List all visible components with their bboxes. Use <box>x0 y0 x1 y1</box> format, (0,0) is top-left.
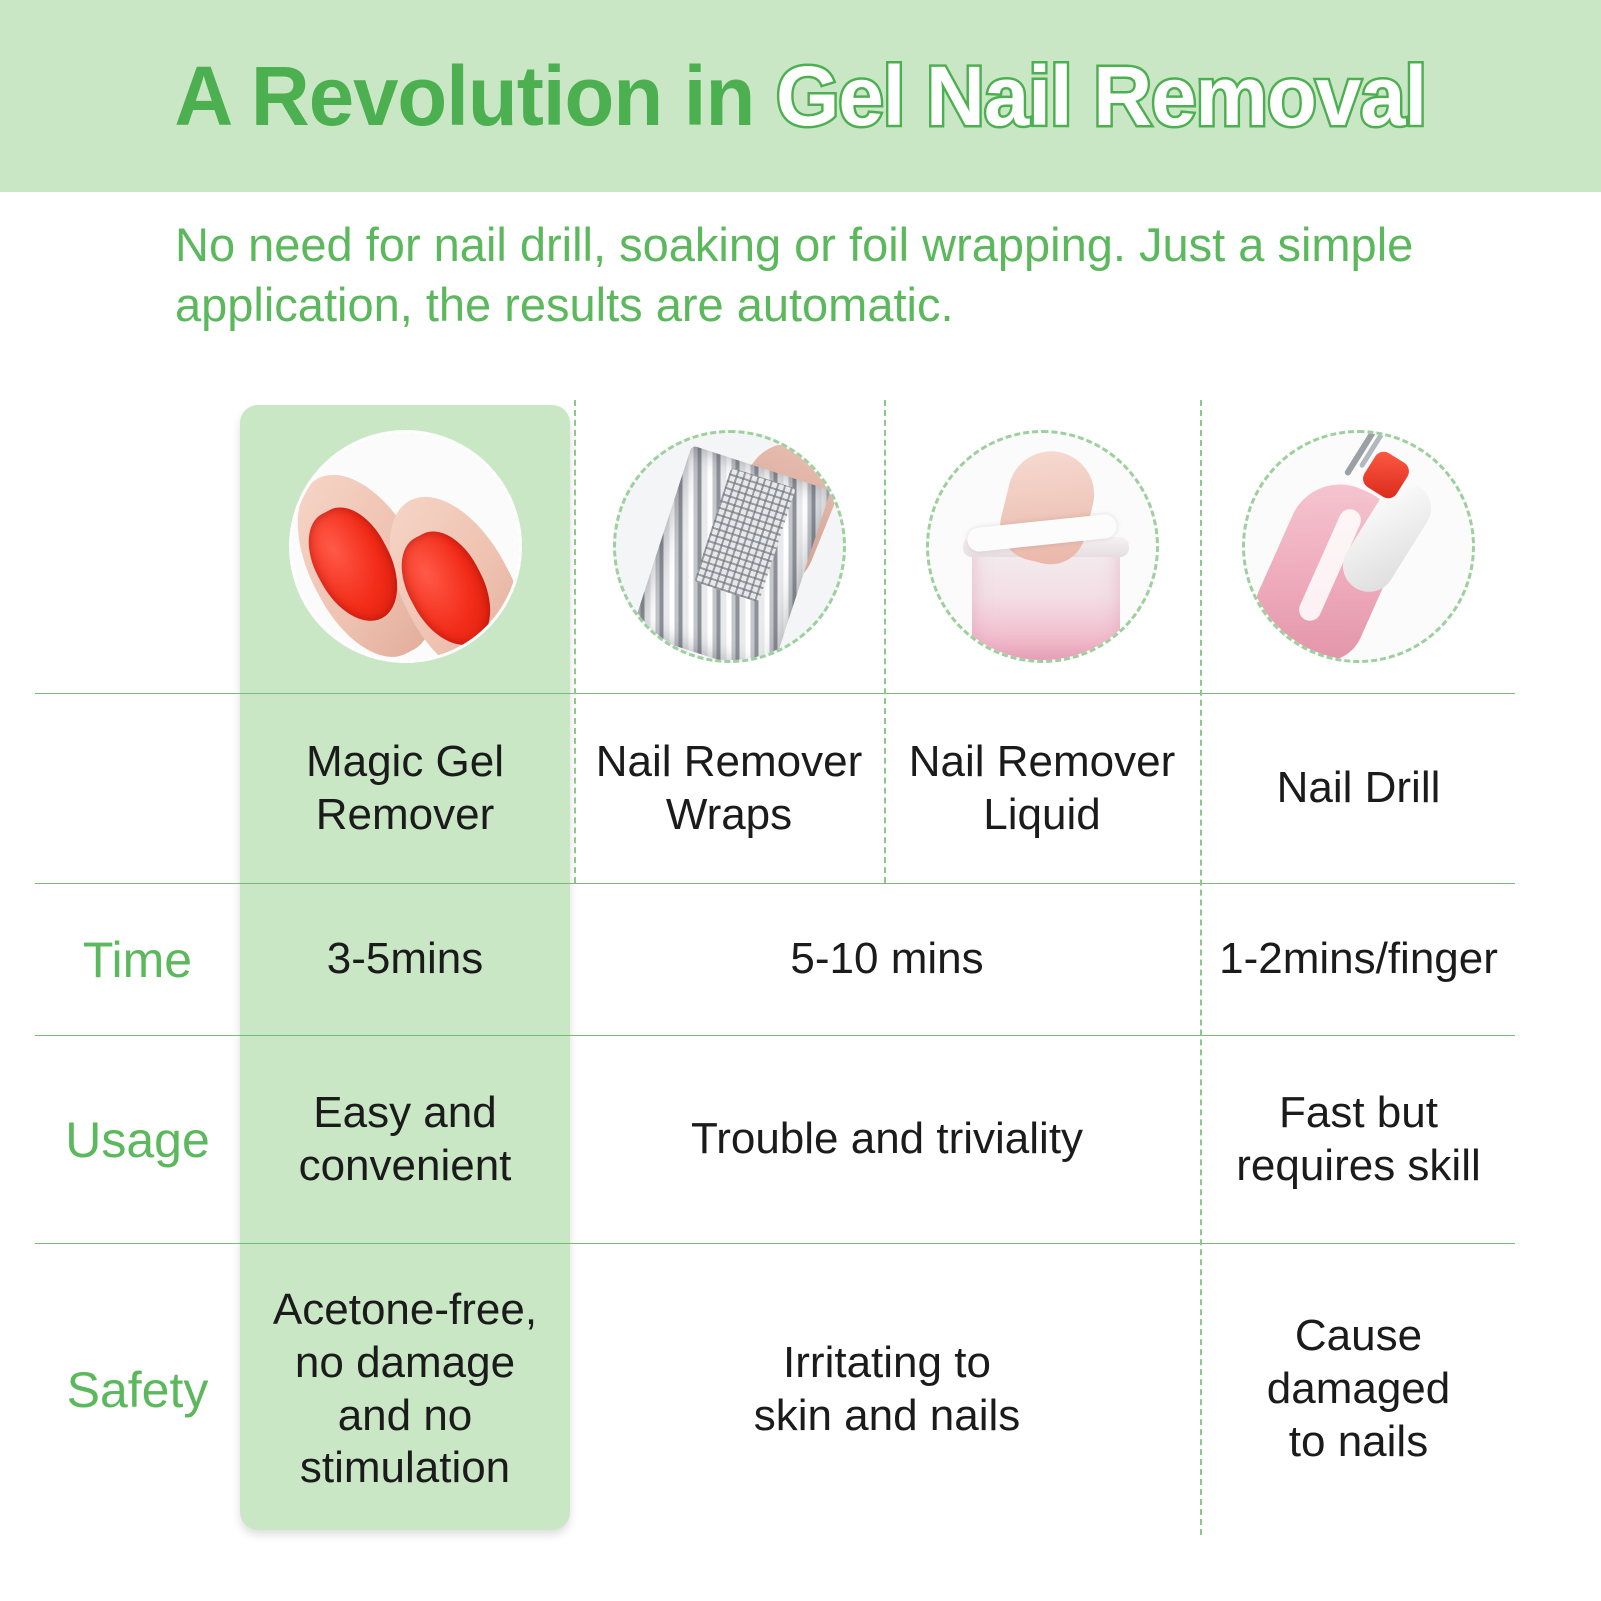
safety-value-magic-gel: Acetone-free, no damage and no stimulati… <box>240 1244 570 1535</box>
product-name-cell-3: Nail Remover Liquid <box>886 694 1198 883</box>
product-name-2-line1: Nail Remover <box>596 736 863 789</box>
product-name-2-line2: Wraps <box>596 789 863 842</box>
safety-magic-gel-line3: and no <box>273 1390 537 1443</box>
time-value-wraps-and-liquid: 5-10 mins <box>576 884 1198 1035</box>
header-band: A Revolution in Gel Nail Removal <box>0 0 1601 192</box>
safety-nail-drill-line3: to nails <box>1267 1416 1450 1469</box>
row-label-usage: Usage <box>35 1036 240 1243</box>
nail-drill-photo <box>1242 430 1475 663</box>
usage-nail-drill-line1: Fast but <box>1236 1087 1481 1140</box>
subtitle-text: No need for nail drill, soaking or foil … <box>175 215 1445 335</box>
product-image-cell-1 <box>240 400 570 693</box>
product-name-4-line1: Nail Drill <box>1277 762 1441 815</box>
product-image-cell-3 <box>886 400 1198 693</box>
time-value-magic-gel: 3-5mins <box>240 884 570 1035</box>
product-name-cell-2: Nail Remover Wraps <box>576 694 882 883</box>
safety-nail-drill-line2: damaged <box>1267 1363 1450 1416</box>
safety-span-line2: skin and nails <box>754 1390 1021 1443</box>
safety-nail-drill-line1: Cause <box>1267 1310 1450 1363</box>
usage-value-magic-gel: Easy and convenient <box>240 1036 570 1243</box>
row-label-time: Time <box>35 884 240 1035</box>
title-white-text: Gel Nail Removal <box>776 49 1426 143</box>
usage-value-nail-drill: Fast but requires skill <box>1202 1036 1515 1243</box>
safety-span-line1: Irritating to <box>754 1337 1021 1390</box>
safety-value-nail-drill: Cause damaged to nails <box>1202 1244 1515 1535</box>
safety-magic-gel-line2: no damage <box>273 1337 537 1390</box>
product-name-1-line2: Remover <box>306 789 504 842</box>
safety-magic-gel-line4: stimulation <box>273 1442 537 1495</box>
nail-gel-photo <box>289 430 522 663</box>
safety-value-wraps-and-liquid: Irritating to skin and nails <box>576 1244 1198 1535</box>
product-name-3-line2: Liquid <box>909 789 1176 842</box>
usage-magic-gel-line1: Easy and <box>299 1087 512 1140</box>
product-name-cell-1: Magic Gel Remover <box>240 694 570 883</box>
product-name-1-line1: Magic Gel <box>306 736 504 789</box>
usage-magic-gel-line2: convenient <box>299 1140 512 1193</box>
usage-value-wraps-and-liquid: Trouble and triviality <box>576 1036 1198 1243</box>
usage-nail-drill-line2: requires skill <box>1236 1140 1481 1193</box>
foil-wrap-photo <box>613 430 846 663</box>
product-name-3-line1: Nail Remover <box>909 736 1176 789</box>
time-value-nail-drill: 1-2mins/finger <box>1202 884 1515 1035</box>
comparison-table: Magic Gel Remover Nail Remover Wraps Nai… <box>35 400 1515 1535</box>
product-image-cell-2 <box>576 400 882 693</box>
page-title: A Revolution in Gel Nail Removal <box>175 54 1427 138</box>
product-name-cell-4: Nail Drill <box>1202 694 1515 883</box>
title-green-text: A Revolution in <box>175 49 777 143</box>
remover-liquid-photo <box>926 430 1159 663</box>
safety-magic-gel-line1: Acetone-free, <box>273 1284 537 1337</box>
row-label-safety: Safety <box>35 1244 240 1535</box>
product-image-cell-4 <box>1202 400 1515 693</box>
